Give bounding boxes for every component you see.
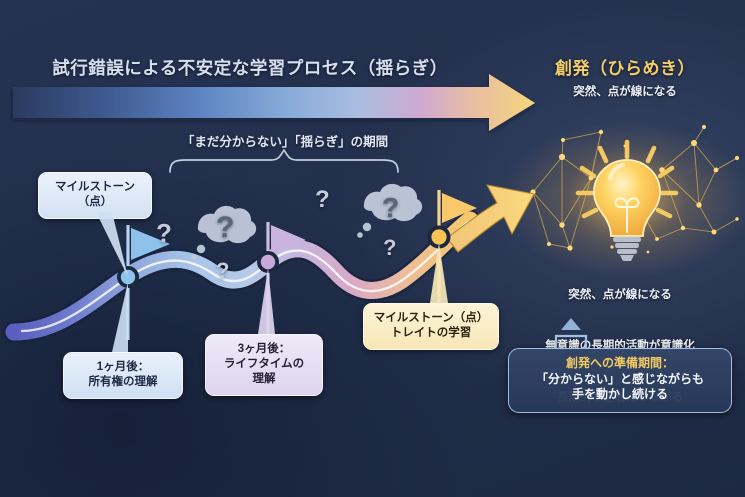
question-mark-2: ?	[216, 211, 234, 245]
callout-line: 創発への準備期間：	[515, 356, 725, 372]
question-mark-6: ?	[383, 235, 396, 261]
callout-line: ライフタイムの	[210, 357, 318, 372]
question-mark-5: ?	[382, 192, 399, 224]
emergence-body: 突然、点が線になる 無意識の長期的活動が意識化 長期的な定着につながる	[495, 252, 745, 442]
milestone-node-3[interactable]	[429, 227, 450, 248]
milestone-flag-3	[439, 190, 477, 308]
callout-line: マイルストーン（点）	[368, 311, 494, 326]
emergence-title: 創発（ひらめき）	[505, 58, 745, 80]
callout-preparation-period[interactable]: 創発への準備期間： 「分からない」と感じながらも 手を動かし続ける	[508, 348, 732, 413]
callout-line: 3ヶ月後：	[210, 342, 318, 357]
period-bracket	[170, 150, 398, 172]
question-mark-4: ?	[315, 186, 330, 214]
callout-line: 手を動かし続ける	[515, 387, 725, 403]
callout-line: 理解	[210, 372, 318, 387]
question-mark-3: ?	[216, 258, 229, 284]
bracket-label: 「まだ分からない」「揺らぎ」の期間	[120, 134, 450, 150]
callout-month3[interactable]: 3ヶ月後： ライフタイムの 理解	[205, 334, 323, 396]
emergence-body-line: 突然、点が線になる	[495, 287, 745, 304]
milestone-flag-2	[268, 222, 306, 336]
question-mark-1: ?	[156, 218, 172, 249]
lightbulb-icon	[594, 160, 660, 261]
progress-arrow-bar	[13, 74, 535, 131]
callout-line: トレイトの学習	[368, 326, 494, 341]
infographic-canvas: ? ? ? ? ? ? 試行錯誤による不安定な学習プロセス（揺らぎ） 創発（ひら…	[0, 0, 745, 497]
milestone-node-2[interactable]	[258, 252, 278, 272]
callout-line: マイルストーン	[43, 180, 147, 195]
callout-line: 所有権の理解	[68, 375, 178, 390]
callout-month1[interactable]: 1ヶ月後： 所有権の理解	[63, 352, 183, 399]
milestone-node-1[interactable]	[118, 267, 138, 287]
callout-line: 「分からない」と感じながらも	[515, 372, 725, 388]
callout-line: 1ヶ月後：	[68, 360, 178, 375]
callout-milestone[interactable]: マイルストーン （点）	[38, 172, 152, 219]
emergence-subtitle: 突然、点が線になる	[505, 85, 745, 100]
callout-trait[interactable]: マイルストーン（点） トレイトの学習	[363, 303, 499, 350]
path-end-arrow	[447, 185, 534, 252]
page-title: 試行錯誤による不安定な学習プロセス（揺らぎ）	[0, 57, 500, 79]
callout-line: （点）	[43, 195, 147, 210]
